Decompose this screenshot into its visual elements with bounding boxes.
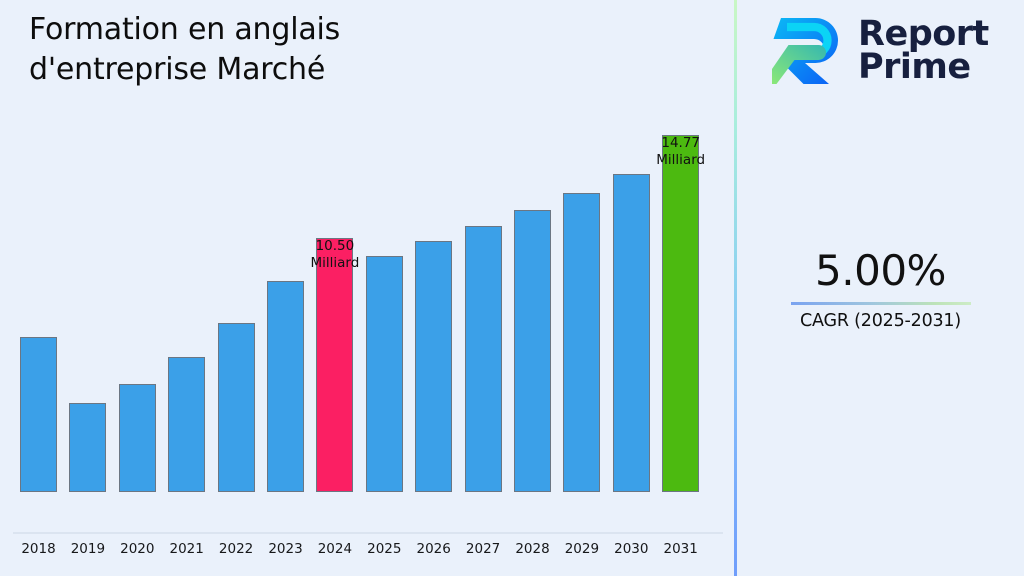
- cagr-value: 5.00%: [737, 248, 1024, 294]
- chart-plot-area: 10.50 Milliard14.77 Milliard: [0, 0, 735, 534]
- bar-2028: [514, 210, 551, 492]
- cagr-divider: [791, 302, 971, 305]
- bar-2021: [168, 357, 205, 492]
- bar-2026: [415, 241, 452, 492]
- bar-2018: [20, 337, 57, 492]
- x-axis-line: [13, 532, 723, 534]
- bar-2024: [316, 238, 353, 492]
- bar-2022: [218, 323, 255, 492]
- bar-2020: [119, 384, 156, 492]
- bar-2027: [465, 226, 502, 492]
- brand-logo: Report Prime: [772, 12, 989, 90]
- bar-2030: [613, 174, 650, 492]
- bar-2023: [267, 281, 304, 492]
- cagr-block: 5.00% CAGR (2025-2031): [737, 248, 1024, 331]
- bar-2029: [563, 193, 600, 492]
- report-prime-logo-icon: [772, 12, 844, 90]
- summary-panel: Report Prime 5.00% CAGR (2025-2031): [737, 0, 1024, 576]
- x-tick-2031: 2031: [651, 541, 711, 557]
- bar-2031: [662, 135, 699, 492]
- bar-2019: [69, 403, 106, 492]
- report-card: Formation en anglais d'entreprise Marché…: [0, 0, 1024, 576]
- bar-chart: 10.50 Milliard14.77 Milliard 20182019202…: [0, 0, 735, 576]
- brand-name: Report Prime: [858, 18, 989, 85]
- chart-panel: Formation en anglais d'entreprise Marché…: [0, 0, 735, 576]
- cagr-caption: CAGR (2025-2031): [737, 311, 1024, 331]
- bar-2025: [366, 256, 403, 492]
